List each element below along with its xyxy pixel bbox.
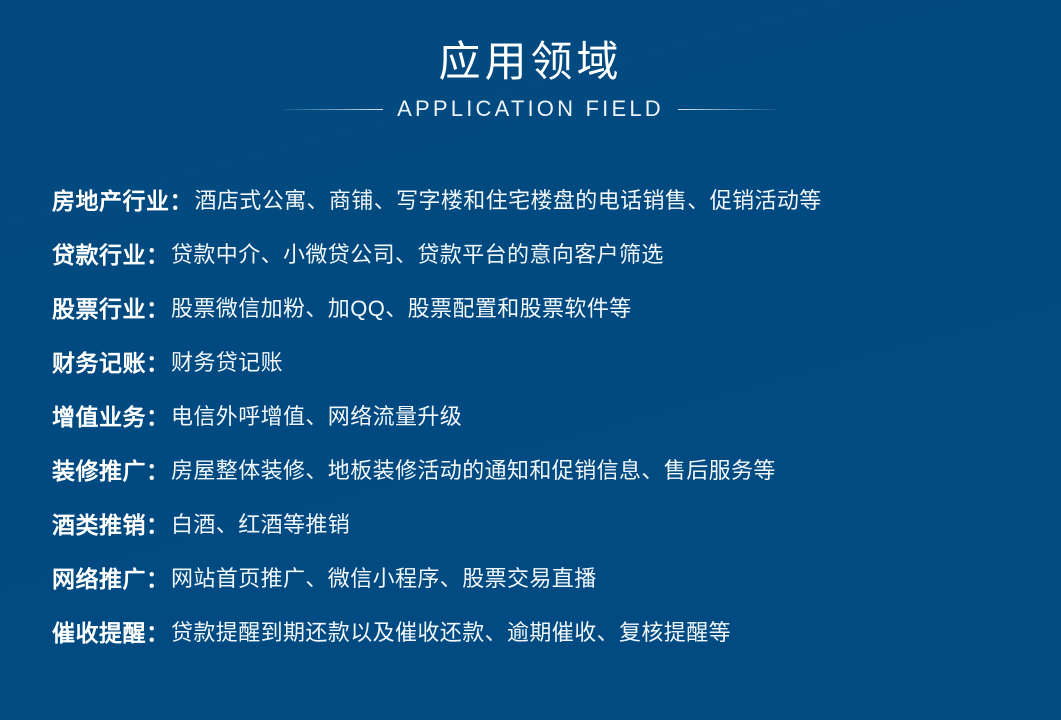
page-subtitle: APPLICATION FIELD (397, 96, 664, 122)
field-label: 房地产行业 (52, 182, 170, 216)
list-item: 增值业务 ： 电信外呼增值、网络流量升级 (52, 388, 1037, 442)
field-separator: ： (146, 236, 169, 270)
list-item: 财务记账 ： 财务贷记账 (52, 334, 1037, 388)
field-separator: ： (146, 560, 169, 594)
field-separator: ： (146, 398, 169, 432)
field-label: 催收提醒 (52, 614, 146, 648)
field-separator: ： (146, 290, 169, 324)
list-item: 股票行业 ： 股票微信加粉、加QQ、股票配置和股票软件等 (52, 280, 1037, 334)
field-list: 房地产行业 ： 酒店式公寓、商铺、写字楼和住宅楼盘的电话销售、促销活动等 贷款行… (52, 172, 1037, 658)
slide-header: 应用领域 APPLICATION FIELD (0, 0, 1061, 122)
application-field-slide: 应用领域 APPLICATION FIELD 房地产行业 ： 酒店式公寓、商铺、… (0, 0, 1061, 720)
field-description: 贷款提醒到期还款以及催收还款、逾期催收、复核提醒等 (171, 615, 731, 647)
field-description: 贷款中介、小微贷公司、贷款平台的意向客户筛选 (171, 237, 664, 269)
field-label: 股票行业 (52, 290, 146, 324)
page-title: 应用领域 (0, 38, 1061, 86)
field-description: 股票微信加粉、加QQ、股票配置和股票软件等 (171, 291, 632, 323)
field-label: 贷款行业 (52, 236, 146, 270)
decorative-rule-right-icon (678, 109, 778, 110)
subtitle-row: APPLICATION FIELD (0, 96, 1061, 122)
decorative-rule-left-icon (283, 109, 383, 110)
list-item: 网络推广 ： 网站首页推广、微信小程序、股票交易直播 (52, 550, 1037, 604)
field-label: 增值业务 (52, 398, 146, 432)
field-label: 装修推广 (52, 452, 146, 486)
field-description: 房屋整体装修、地板装修活动的通知和促销信息、售后服务等 (171, 453, 776, 485)
list-item: 催收提醒 ： 贷款提醒到期还款以及催收还款、逾期催收、复核提醒等 (52, 604, 1037, 658)
field-separator: ： (146, 452, 169, 486)
field-description: 财务贷记账 (171, 345, 283, 377)
field-label: 网络推广 (52, 560, 146, 594)
field-separator: ： (146, 344, 169, 378)
field-description: 网站首页推广、微信小程序、股票交易直播 (171, 561, 597, 593)
field-separator: ： (170, 182, 193, 216)
field-description: 酒店式公寓、商铺、写字楼和住宅楼盘的电话销售、促销活动等 (195, 183, 822, 215)
field-separator: ： (146, 614, 169, 648)
field-separator: ： (146, 506, 169, 540)
list-item: 房地产行业 ： 酒店式公寓、商铺、写字楼和住宅楼盘的电话销售、促销活动等 (52, 172, 1037, 226)
list-item: 贷款行业 ： 贷款中介、小微贷公司、贷款平台的意向客户筛选 (52, 226, 1037, 280)
list-item: 酒类推销 ： 白酒、红酒等推销 (52, 496, 1037, 550)
field-description: 电信外呼增值、网络流量升级 (171, 399, 462, 431)
field-description: 白酒、红酒等推销 (171, 507, 350, 539)
field-label: 酒类推销 (52, 506, 146, 540)
field-label: 财务记账 (52, 344, 146, 378)
list-item: 装修推广 ： 房屋整体装修、地板装修活动的通知和促销信息、售后服务等 (52, 442, 1037, 496)
